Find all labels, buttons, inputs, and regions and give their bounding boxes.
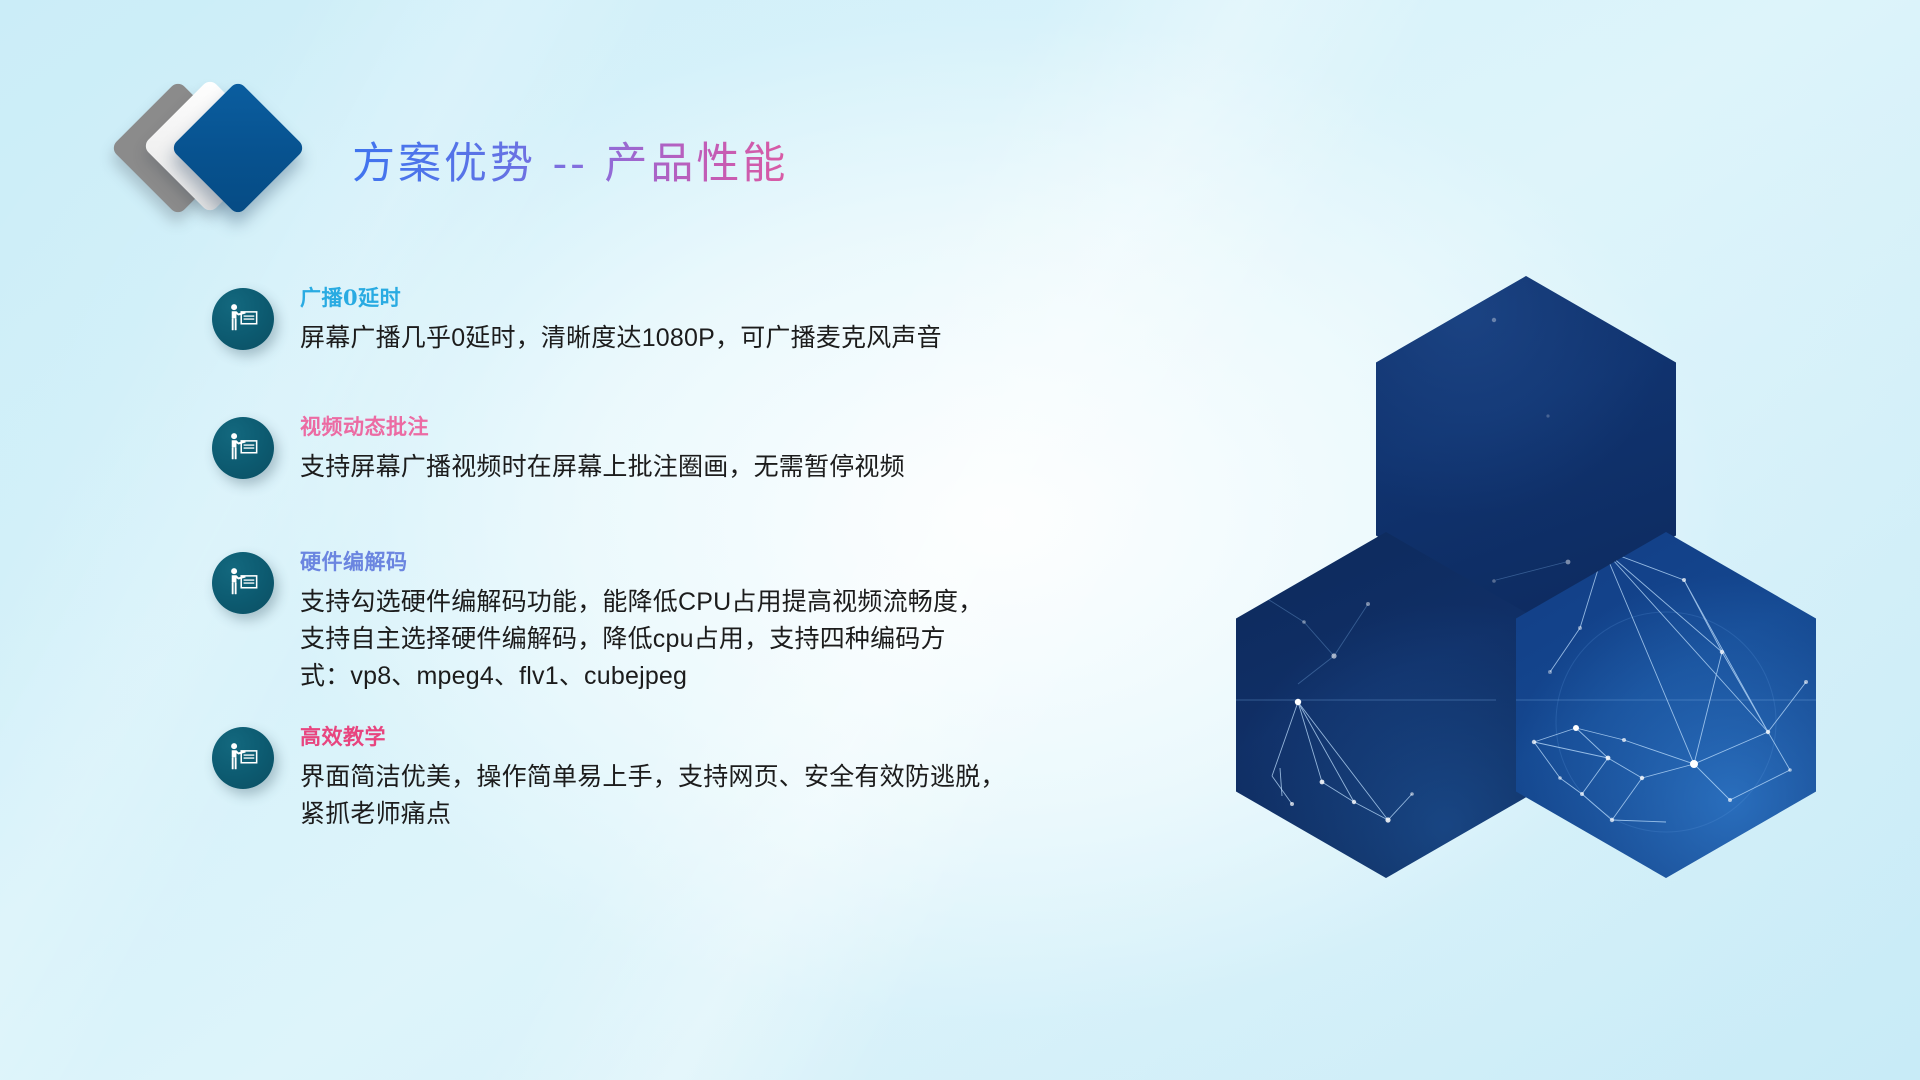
feature-description: 界面简洁优美，操作简单易上手，支持网页、安全有效防逃脱， 紧抓老师痛点 [300,759,1006,833]
feature-body: 硬件编解码 支持勾选硬件编解码功能，能降低CPU占用提高视频流畅度， 支持自主选… [300,550,983,695]
feature-description: 支持勾选硬件编解码功能，能降低CPU占用提高视频流畅度， 支持自主选择硬件编解码… [300,584,983,695]
presenter-whiteboard-icon [212,552,274,614]
presenter-whiteboard-icon [212,288,274,350]
feature-item: 高效教学 界面简洁优美，操作简单易上手，支持网页、安全有效防逃脱， 紧抓老师痛点 [212,725,1212,833]
feature-item: 视频动态批注 支持屏幕广播视频时在屏幕上批注圈画，无需暂停视频 [212,415,1212,486]
presenter-whiteboard-icon [212,727,274,789]
feature-heading: 高效教学 [300,725,1006,748]
feature-heading: 广播0延时 [300,286,942,309]
feature-body: 广播0延时 屏幕广播几乎0延时，清晰度达1080P，可广播麦克风声音 [300,286,942,357]
feature-body: 高效教学 界面简洁优美，操作简单易上手，支持网页、安全有效防逃脱， 紧抓老师痛点 [300,725,1006,833]
feature-list: 广播0延时 屏幕广播几乎0延时，清晰度达1080P，可广播麦克风声音 [212,286,1212,869]
slide-canvas: 方案优势 -- 产品性能 广播0延时 [0,0,1920,1080]
feature-item: 广播0延时 屏幕广播几乎0延时，清晰度达1080P，可广播麦克风声音 [212,286,1212,357]
feature-description: 支持屏幕广播视频时在屏幕上批注圈画，无需暂停视频 [300,449,905,486]
hexagon-network-cluster [1236,276,1816,876]
feature-description: 屏幕广播几乎0延时，清晰度达1080P，可广播麦克风声音 [300,320,942,357]
slide-title: 方案优势 -- 产品性能 [352,129,788,191]
feature-item: 硬件编解码 支持勾选硬件编解码功能，能降低CPU占用提高视频流畅度， 支持自主选… [212,550,1212,695]
feature-body: 视频动态批注 支持屏幕广播视频时在屏幕上批注圈画，无需暂停视频 [300,415,905,486]
logo-stacked-diamonds [128,86,304,218]
feature-heading: 硬件编解码 [300,550,983,573]
presenter-whiteboard-icon [212,417,274,479]
feature-heading: 视频动态批注 [300,415,905,438]
